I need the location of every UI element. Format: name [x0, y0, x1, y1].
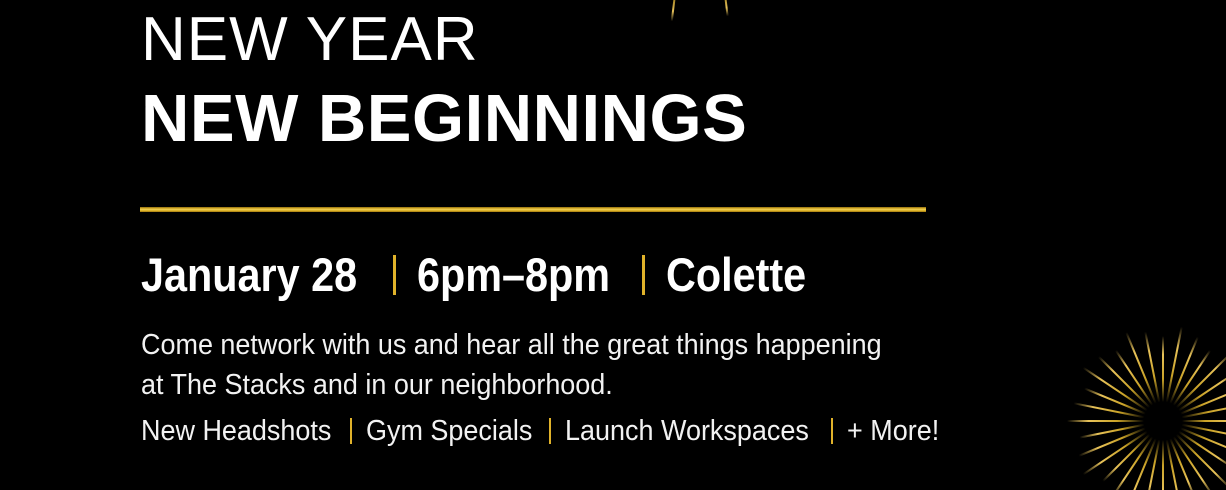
feature-item-1: New Headshots	[141, 412, 331, 450]
body-copy-line-1: Come network with us and hear all the gr…	[141, 325, 882, 365]
headline-line-1: NEW YEAR	[141, 2, 747, 78]
feature-separator-icon	[549, 418, 551, 444]
firework-ray	[1176, 352, 1226, 408]
body-copy-line-2: at The Stacks and in our neighborhood.	[141, 365, 882, 405]
event-date: January 28	[141, 250, 357, 300]
firework-ray	[1182, 420, 1226, 422]
event-venue: Colette	[666, 250, 806, 300]
body-copy: Come network with us and hear all the gr…	[141, 325, 937, 405]
headline-block: NEW YEAR NEW BEGINNINGS	[141, 2, 747, 160]
headline-line-2: NEW BEGINNINGS	[141, 78, 747, 160]
firework-ray	[1112, 436, 1153, 490]
detail-separator-icon	[642, 255, 645, 295]
firework-ray	[1180, 387, 1226, 414]
features-line: New Headshots Gym Specials Launch Worksp…	[141, 412, 946, 450]
firework-ray	[1166, 439, 1183, 490]
feature-separator-icon	[831, 418, 833, 444]
firework-ray	[1098, 356, 1150, 408]
firework-ray	[1173, 436, 1214, 490]
firework-ray	[1178, 431, 1226, 469]
event-poster: NEW YEAR NEW BEGINNINGS January 28 6pm–8…	[0, 0, 1226, 490]
firework-ray	[1178, 370, 1226, 411]
firework-ray	[1084, 387, 1146, 414]
firework-ray	[1102, 434, 1150, 482]
firework-ray	[1173, 350, 1211, 406]
event-time: 6pm–8pm	[417, 250, 610, 300]
firework-ray	[1176, 434, 1226, 490]
event-details-line: January 28 6pm–8pm Colette	[141, 250, 825, 300]
firework-ray	[1083, 431, 1148, 475]
firework-ray	[1079, 424, 1144, 439]
firework-ray	[1083, 367, 1148, 411]
firework-ray	[1162, 440, 1164, 490]
feature-separator-icon	[350, 418, 352, 444]
firework-ray	[1067, 420, 1144, 422]
firework-ray	[1180, 427, 1226, 456]
feature-item-4: + More!	[847, 412, 939, 450]
firework-ray	[1181, 424, 1226, 441]
firework-ray	[1125, 438, 1156, 490]
firework-ray	[1145, 439, 1160, 490]
firework-ray	[1169, 438, 1196, 490]
firework-ray	[1144, 332, 1160, 403]
firework-ray	[1074, 402, 1145, 418]
feature-item-2: Gym Specials	[366, 412, 532, 450]
detail-separator-icon	[393, 255, 396, 295]
firework-ray	[1169, 337, 1198, 404]
firework-ray	[1125, 332, 1156, 404]
firework-ray	[1181, 401, 1226, 418]
firework-ray	[1162, 336, 1164, 402]
feature-item-3: Launch Workspaces	[565, 412, 809, 450]
gold-divider-rule	[140, 207, 926, 212]
firework-ray	[1166, 327, 1183, 403]
firework-ray	[1079, 427, 1146, 456]
firework-ray	[1115, 350, 1153, 406]
